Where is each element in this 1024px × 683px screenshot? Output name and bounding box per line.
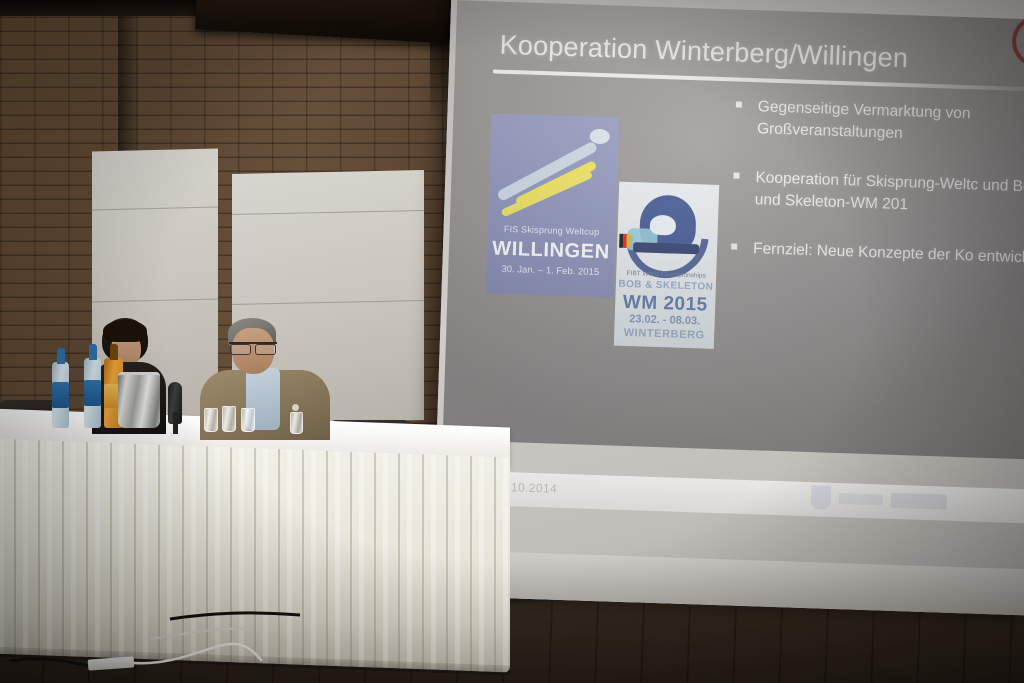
sled-icon (633, 242, 699, 254)
floor-cables (0, 543, 560, 683)
microphone-stem (173, 412, 178, 434)
bullet-square-icon (736, 101, 742, 107)
lapel-pin (292, 404, 299, 411)
wordmark-logo-icon (839, 493, 883, 505)
german-flag-icon (619, 234, 630, 248)
ice-bucket (118, 372, 160, 428)
poster-winterberg-line5: WINTERBERG (614, 327, 714, 342)
bullet-item: Gegenseitige Vermarktung von Großveranst… (729, 95, 1024, 151)
water-bottle (52, 362, 69, 428)
poster-willingen-date: 30. Jan. – 1. Feb. 2015 (486, 263, 614, 278)
hair-fringe (103, 320, 147, 342)
presentation-slide: Kooperation Winterberg/Willingen Gegense… (443, 0, 1024, 459)
poster-willingen: FIS Skisprung Weltcup WILLINGEN 30. Jan.… (485, 113, 619, 297)
crest-logo-icon (811, 485, 832, 510)
poster-winterberg-line2: BOB & SKELETON (616, 279, 716, 293)
photo-scene: Kooperation Winterberg/Willingen Gegense… (0, 0, 1024, 683)
drinking-glass (222, 406, 236, 432)
projection-screen: Kooperation Winterberg/Willingen Gegense… (431, 0, 1024, 616)
drinking-glass (204, 408, 218, 432)
bottle-label (52, 382, 69, 408)
helmet-icon (650, 215, 677, 236)
bullet-text: Kooperation für Skisprung-Weltc und Bob-… (754, 169, 1024, 214)
bottle-label (84, 380, 101, 406)
bullet-square-icon (731, 243, 737, 249)
bullet-text: Gegenseitige Vermarktung von Großveranst… (757, 98, 971, 142)
bullet-text: Fernziel: Neue Konzepte der Ko entwickel… (753, 240, 1024, 267)
bullet-square-icon (733, 172, 739, 178)
drinking-glass (290, 412, 303, 434)
slide-footer: 23.10.2014 (440, 470, 1024, 524)
bullet-item: Fernziel: Neue Konzepte der Ko entwickel… (725, 237, 1024, 270)
water-bottle (84, 358, 101, 428)
bullet-item: Kooperation für Skisprung-Weltc und Bob-… (726, 166, 1024, 222)
drinking-glass (241, 408, 255, 432)
glasses-icon (229, 342, 277, 351)
slide-footer-logos (811, 485, 948, 513)
slide-title: Kooperation Winterberg/Willingen (499, 30, 908, 75)
poster-winterberg-line4: 23.02. - 08.03. (615, 313, 715, 328)
circular-logo-icon (1011, 15, 1024, 69)
screen-surface: Kooperation Winterberg/Willingen Gegense… (431, 0, 1024, 616)
sponsor-logo-icon (891, 492, 947, 509)
slide-bullet-list: Gegenseitige Vermarktung von Großveranst… (724, 95, 1024, 296)
title-divider (493, 69, 1024, 91)
poster-willingen-subtitle: FIS Skisprung Weltcup (487, 223, 615, 237)
poster-willingen-title: WILLINGEN (487, 237, 616, 264)
poster-winterberg: FIBT World Championships BOB & SKELETON … (614, 182, 719, 349)
